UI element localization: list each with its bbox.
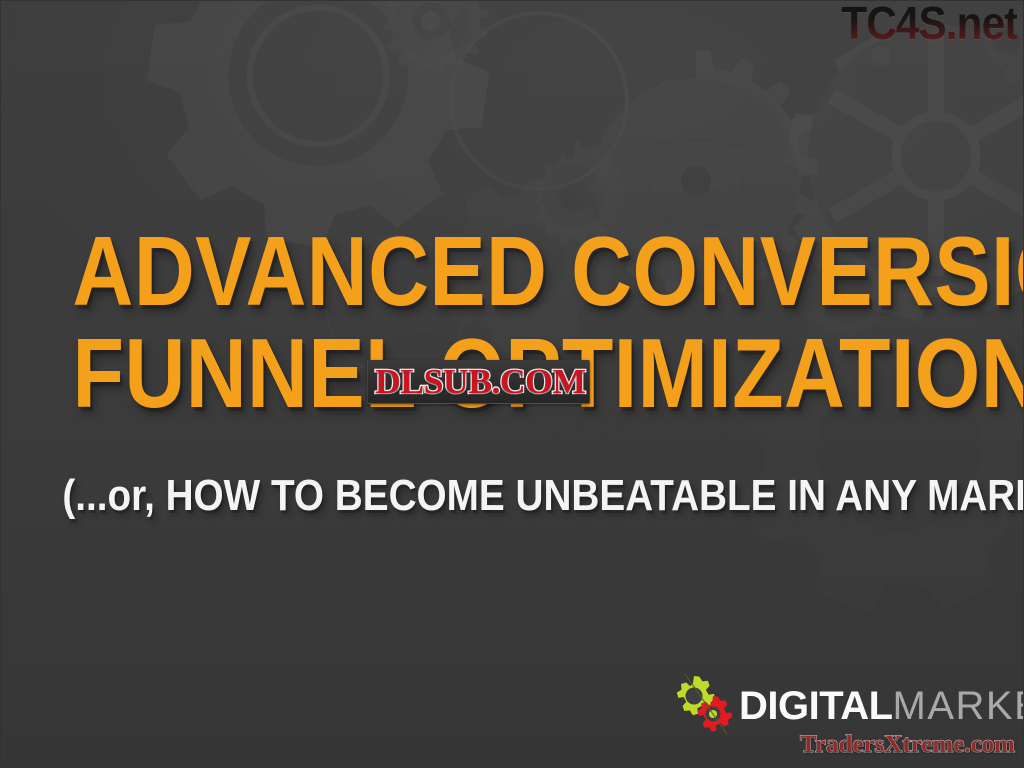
logo-bold-text: DIGITAL (739, 684, 893, 728)
slide-canvas: ADVANCED CONVERSION FUNNEL OPTIMIZATION … (0, 0, 1024, 768)
title-line-1: ADVANCED CONVERSION (73, 223, 952, 319)
logo-light-text: MARKETER (893, 684, 1024, 728)
subtitle-text: (...or, HOW TO BECOME UNBEATABLE IN ANY … (62, 474, 961, 518)
watermark-dlsub-text: DLSUB.COM (375, 364, 586, 399)
two-gears-icon (667, 672, 743, 738)
digitalmarketer-wordmark: DIGITALMARKETER (739, 686, 1024, 726)
digitalmarketer-logo: DIGITALMARKETER (667, 672, 1024, 738)
watermark-dlsub-badge: DLSUB.COM (367, 360, 590, 404)
watermark-tc4s: TC4S.net (841, 0, 1017, 47)
